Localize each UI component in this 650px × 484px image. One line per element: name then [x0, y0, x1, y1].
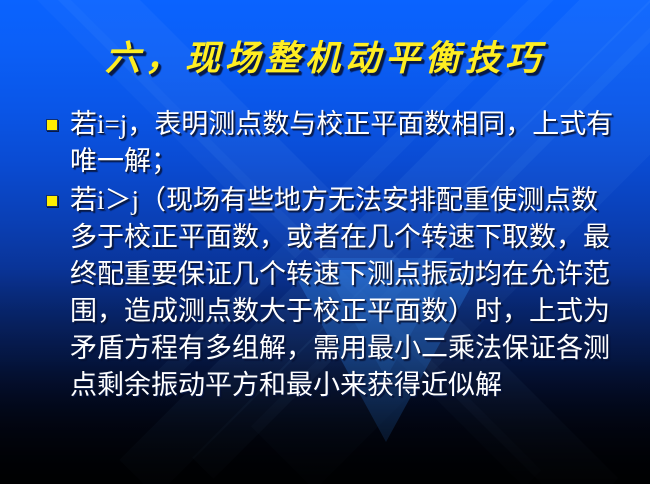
slide-content: 六，现场整机动平衡技巧 若i=j，表明测点数与校正平面数相同，上式有唯一解； 若… [0, 0, 650, 484]
bullet-square-icon [46, 119, 58, 131]
bullet-square-icon [46, 195, 58, 207]
presentation-slide: 六，现场整机动平衡技巧 若i=j，表明测点数与校正平面数相同，上式有唯一解； 若… [0, 0, 650, 484]
bullet-text: 若i＞j（现场有些地方无法安排配重使测点数多于校正平面数，或者在几个转速下取数，… [70, 185, 610, 400]
slide-title: 六，现场整机动平衡技巧 [0, 30, 650, 81]
bullet-list: 若i=j，表明测点数与校正平面数相同，上式有唯一解； 若i＞j（现场有些地方无法… [42, 106, 622, 406]
bullet-text: 若i=j，表明测点数与校正平面数相同，上式有唯一解； [70, 109, 613, 176]
list-item: 若i＞j（现场有些地方无法安排配重使测点数多于校正平面数，或者在几个转速下取数，… [42, 182, 622, 404]
list-item: 若i=j，表明测点数与校正平面数相同，上式有唯一解； [42, 106, 622, 180]
